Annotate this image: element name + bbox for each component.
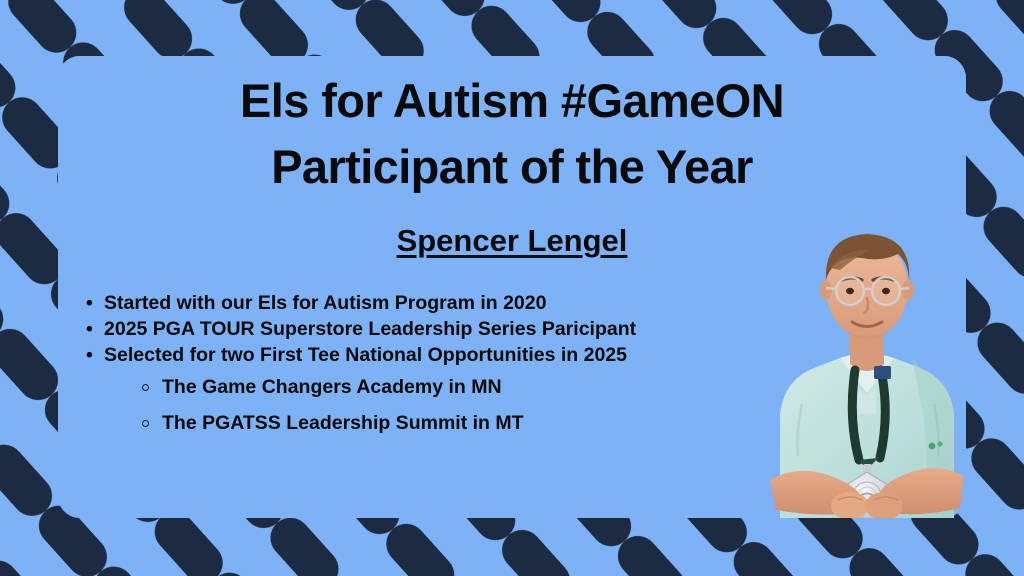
list-item: • Selected for two First Tee National Op… [82,343,762,436]
bullet-circle-hollow-icon [142,384,149,391]
title-line-2: Participant of the Year [62,134,962,200]
honoree-photo [762,218,972,518]
bullet-disc-icon: • [86,317,93,342]
bullet-list-level1: • Started with our Els for Autism Progra… [82,291,762,436]
bullet-disc-icon: • [86,343,93,368]
bullet-circle-hollow-icon [142,420,149,427]
achievements-list: • Started with our Els for Autism Progra… [82,291,762,447]
list-item: • 2025 PGA TOUR Superstore Leadership Se… [82,317,762,342]
list-item-label: Selected for two First Tee National Oppo… [104,344,627,366]
list-item-label: The PGATSS Leadership Summit in MT [162,412,524,434]
list-item-label: The Game Changers Academy in MN [162,376,502,398]
page-title: Els for Autism #GameON Participant of th… [62,68,962,200]
bullet-disc-icon: • [86,291,93,316]
list-item: The Game Changers Academy in MN [140,375,762,400]
list-item-label: Started with our Els for Autism Program … [104,292,546,314]
list-item-label: 2025 PGA TOUR Superstore Leadership Seri… [104,318,636,340]
list-item: • Started with our Els for Autism Progra… [82,291,762,316]
title-line-1: Els for Autism #GameON [62,68,962,134]
bullet-list-level2: The Game Changers Academy in MN The PGAT… [140,375,762,436]
slide-canvas: Els for Autism #GameON Participant of th… [0,0,1024,576]
list-item: The PGATSS Leadership Summit in MT [140,411,762,436]
